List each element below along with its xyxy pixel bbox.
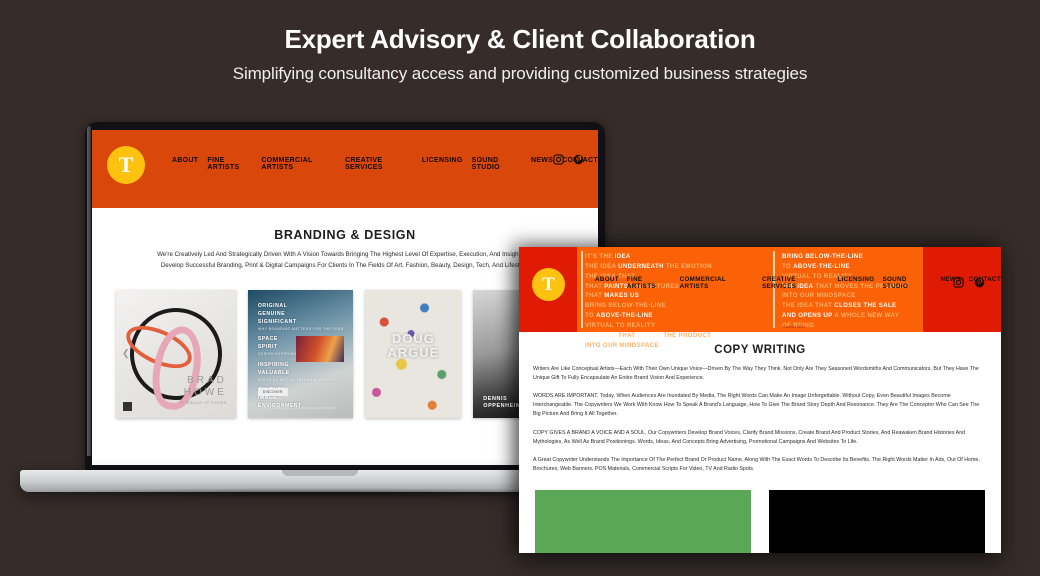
floating-nav-links: ABOUT FINE ARTISTS COMMERCIAL ARTISTS CR…: [595, 276, 1001, 290]
poster-line-4: SPACE: [258, 336, 278, 342]
poster-line-9: IMAGE: [258, 395, 278, 401]
fl-nav-item-sound-studio[interactable]: SOUND STUDIO: [882, 276, 932, 290]
nav-item-about[interactable]: ABOUT: [172, 157, 198, 171]
tile-dimitri[interactable]: dimitri: [769, 490, 985, 553]
hero-credit: Ameena Meer: [783, 325, 805, 329]
fl-nav-item-creative-services[interactable]: CREATIVE SERVICES: [762, 276, 829, 290]
tile-ameena[interactable]: ameena: [535, 490, 751, 553]
screenshot-canvas: Expert Advisory & Client Collaboration S…: [0, 0, 1040, 576]
poster-artwork-thumb: [296, 336, 344, 362]
fl-nav-item-commercial-artists[interactable]: COMMERCIAL ARTISTS: [680, 276, 754, 290]
floating-tile-gallery: ameena dimitri: [533, 490, 987, 553]
poster-cta-button[interactable]: DISCOVER: [258, 388, 288, 396]
floating-social-links: [953, 277, 985, 288]
floating-browser-window[interactable]: T IT'S THE IDEA THE IDEA UNDERNEATH THE …: [519, 247, 1001, 553]
brad-caption: A Dance of Atoms: [181, 400, 227, 406]
laptop-site-navbar: T ABOUT FINE ARTISTS COMMERCIAL ARTISTS …: [92, 130, 598, 208]
poster-line-1: ORIGINAL: [258, 303, 287, 309]
fl-nav-item-licensing[interactable]: LICENSING: [837, 276, 874, 290]
instagram-icon[interactable]: [953, 277, 964, 288]
brad-line1: BRAD: [187, 375, 227, 386]
brad-line2: HOWE: [184, 387, 227, 398]
poster-sub-1: WHY BRANDING MATTERS FOR THE YEAR: [258, 327, 344, 332]
hero-manifesto-right: BRING BELOW-THE-LINE TO ABOVE-THE-LINE V…: [782, 252, 957, 331]
tile-brad-howe[interactable]: ❮ BRAD HOWE A Dance of Atoms: [116, 290, 236, 418]
dennis-oppenheim-title: DENNIS OPPENHEIM: [483, 396, 521, 410]
nav-item-sound-studio[interactable]: SOUND STUDIO: [472, 157, 522, 171]
branding-paragraph: We're Creatively Led And Strategically D…: [155, 250, 535, 272]
fl-nav-item-about[interactable]: ABOUT: [595, 276, 619, 290]
fl-nav-item-fine-artists[interactable]: FINE ARTISTS: [627, 276, 672, 290]
doug-argue-title: DOUG ARGUE: [365, 332, 461, 361]
instagram-icon[interactable]: [553, 154, 564, 165]
floating-site-navbar: ABOUT FINE ARTISTS COMMERCIAL ARTISTS CR…: [577, 276, 1001, 290]
nav-item-commercial-artists[interactable]: COMMERCIAL ARTISTS: [261, 157, 336, 171]
copywriting-paragraph-4: A Great Copywriter Understands The Impor…: [533, 456, 987, 474]
page-title: Expert Advisory & Client Collaboration: [0, 24, 1040, 55]
nav-item-fine-artists[interactable]: FINE ARTISTS: [207, 157, 252, 171]
floating-site-logo[interactable]: T: [532, 268, 565, 301]
laptop-nav-links: ABOUT FINE ARTISTS COMMERCIAL ARTISTS CR…: [172, 157, 598, 171]
floating-logo-panel: T: [519, 247, 577, 332]
copywriting-paragraph-2: WORDS ARE IMPORTANT. Today, When Audienc…: [533, 392, 987, 419]
floating-hero-banner: T IT'S THE IDEA THE IDEA UNDERNEATH THE …: [519, 247, 1001, 332]
copywriting-paragraph-1: Writers Are Like Conceptual Artists—Each…: [533, 365, 987, 383]
poster-footer-text: A LOOK AT MODERN SPACE CULTURE, IMAGE, E…: [258, 407, 336, 411]
tile-architecture-poster[interactable]: ORIGINAL GENUINE SIGNIFICANT WHY BRANDIN…: [248, 290, 354, 418]
laptop-tile-gallery: ❮ BRAD HOWE A Dance of Atoms ORIGINAL: [110, 290, 580, 418]
doug-line2: ARGUE: [387, 345, 439, 360]
dennis-line2: OPPENHEIM: [483, 403, 521, 409]
poster-line-6: INSPIRING: [258, 362, 289, 368]
laptop-social-links: [553, 154, 584, 165]
copywriting-paragraph-3: COPY GIVES A BRAND A VOICE AND A SOUL. O…: [533, 429, 987, 447]
floating-page-content: COPY WRITING Writers Are Like Conceptual…: [519, 332, 1001, 553]
poster-line-2: GENUINE: [258, 311, 285, 317]
poster-line-3: SIGNIFICANT: [258, 319, 297, 325]
pinterest-icon[interactable]: [974, 277, 985, 288]
nav-item-creative-services[interactable]: CREATIVE SERVICES: [345, 157, 413, 171]
poster-line-7: VALUABLE: [258, 370, 290, 376]
site-logo[interactable]: T: [107, 146, 145, 184]
pinterest-icon[interactable]: [573, 154, 584, 165]
page-subtitle: Simplifying consultancy access and provi…: [0, 64, 1040, 84]
publisher-badge: [123, 402, 132, 411]
nav-item-licensing[interactable]: LICENSING: [422, 157, 463, 171]
nav-item-news[interactable]: NEWS: [531, 157, 553, 171]
brad-howe-title: BRAD HOWE A Dance of Atoms: [181, 375, 227, 406]
hero-manifesto-left: IT'S THE IDEA THE IDEA UNDERNEATH THE EM…: [585, 252, 770, 351]
poster-line-5: SPIRIT: [258, 344, 278, 350]
poster-sub-3: SPACE AS ART, AS INTANGIBLE METHOD: [258, 378, 344, 383]
prev-arrow-icon[interactable]: ❮: [122, 348, 130, 359]
doug-line1: DOUG: [392, 331, 435, 346]
branding-heading: BRANDING & DESIGN: [110, 228, 580, 242]
tile-doug-argue[interactable]: DOUG ARGUE: [365, 290, 461, 418]
dennis-line1: DENNIS: [483, 396, 507, 402]
